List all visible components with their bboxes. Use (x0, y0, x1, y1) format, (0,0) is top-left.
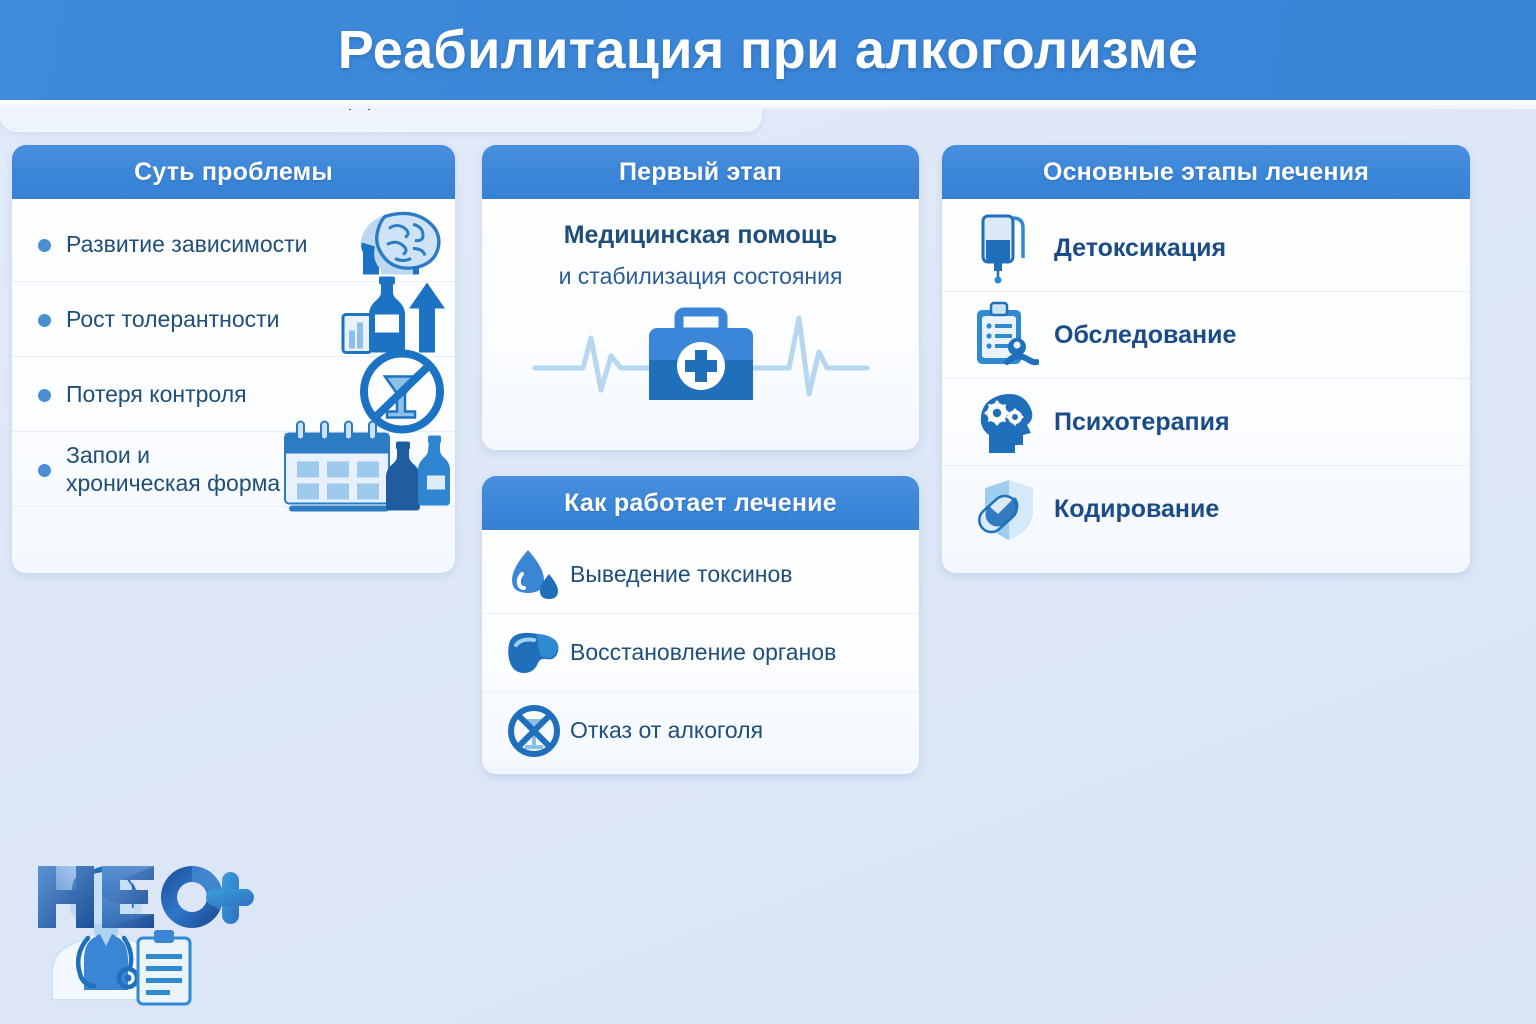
water-drop-icon (506, 548, 562, 602)
list-item-label: Психотерапия (1054, 408, 1230, 437)
list-item[interactable]: Обследование (942, 292, 1470, 379)
bullet-icon (38, 464, 51, 477)
no-alcohol-icon (506, 703, 562, 759)
list-item-label: Детоксикация (1054, 234, 1226, 263)
card-first-step: Первый этап Медицинская помощь и стабили… (482, 145, 919, 450)
card-first-step-body: Медицинская помощь и стабилизация состоя… (482, 199, 919, 418)
neo-plus-logo (36, 858, 254, 936)
calendar-bottles-icon (279, 418, 451, 521)
list-item[interactable]: Запои и хроническая форма (12, 432, 455, 507)
card-problem-header: Суть проблемы (12, 145, 455, 199)
list-item[interactable]: Отказ от алкоголя (482, 692, 919, 770)
head-gears-icon (972, 387, 1040, 457)
card-stages-title: Основные этапы лечения (1043, 158, 1369, 187)
list-item-label: Кодирование (1054, 495, 1219, 524)
page-title: Реабилитация при алкоголизме (338, 19, 1198, 81)
iv-drip-icon (972, 212, 1040, 284)
banner-underline (0, 100, 1536, 109)
card-first-step-header: Первый этап (482, 145, 919, 199)
card-problem-body: Развитие зависимости Рост толерантности (12, 199, 455, 513)
list-item[interactable]: Кодирование (942, 466, 1470, 553)
list-item[interactable]: Развитие зависимости (12, 207, 455, 282)
bullet-icon (38, 389, 51, 402)
list-item-label: Отказ от алкоголя (570, 717, 763, 744)
list-item[interactable]: Восстановление органов (482, 614, 919, 692)
card-how-works-title: Как работает лечение (564, 489, 837, 518)
pill-shield-icon (972, 476, 1040, 544)
card-stages-header: Основные этапы лечения (942, 145, 1470, 199)
list-item-label: Обследование (1054, 321, 1236, 350)
brain-head-icon (355, 207, 447, 282)
card-problem-title: Суть проблемы (134, 158, 333, 187)
liver-icon (506, 629, 562, 677)
bullet-icon (38, 239, 51, 252)
card-problem: Суть проблемы Развитие зависимости (12, 145, 455, 573)
first-step-line2: и стабилизация состояния (500, 263, 901, 290)
medical-bag-ecg-icon (500, 298, 901, 410)
list-item[interactable]: Психотерапия (942, 379, 1470, 466)
list-item-label: Рост толерантности (66, 305, 280, 333)
card-how-works-body: Выведение токсинов Восстановление органо… (482, 530, 919, 774)
card-stages-body: Детоксикация Обслед (942, 199, 1470, 557)
first-step-line1: Медицинская помощь (500, 221, 901, 250)
list-item-label: Восстановление органов (570, 639, 836, 666)
list-item-label: Запои и хроническая форма (66, 441, 280, 497)
list-item[interactable]: Детоксикация (942, 205, 1470, 292)
list-item-label: Потеря контроля (66, 380, 247, 408)
list-item-label: Развитие зависимости (66, 230, 308, 258)
card-stages: Основные этапы лечения Детоксикация (942, 145, 1470, 573)
clipboard-checkup-icon (972, 300, 1040, 370)
list-item-label: Выведение токсинов (570, 561, 793, 588)
card-how-works: Как работает лечение Выведение токсинов (482, 476, 919, 774)
card-how-works-header: Как работает лечение (482, 476, 919, 530)
card-first-step-title: Первый этап (619, 158, 782, 187)
list-item[interactable]: Выведение токсинов (482, 536, 919, 614)
page-banner: Реабилитация при алкоголизме (0, 0, 1536, 100)
bullet-icon (38, 314, 51, 327)
